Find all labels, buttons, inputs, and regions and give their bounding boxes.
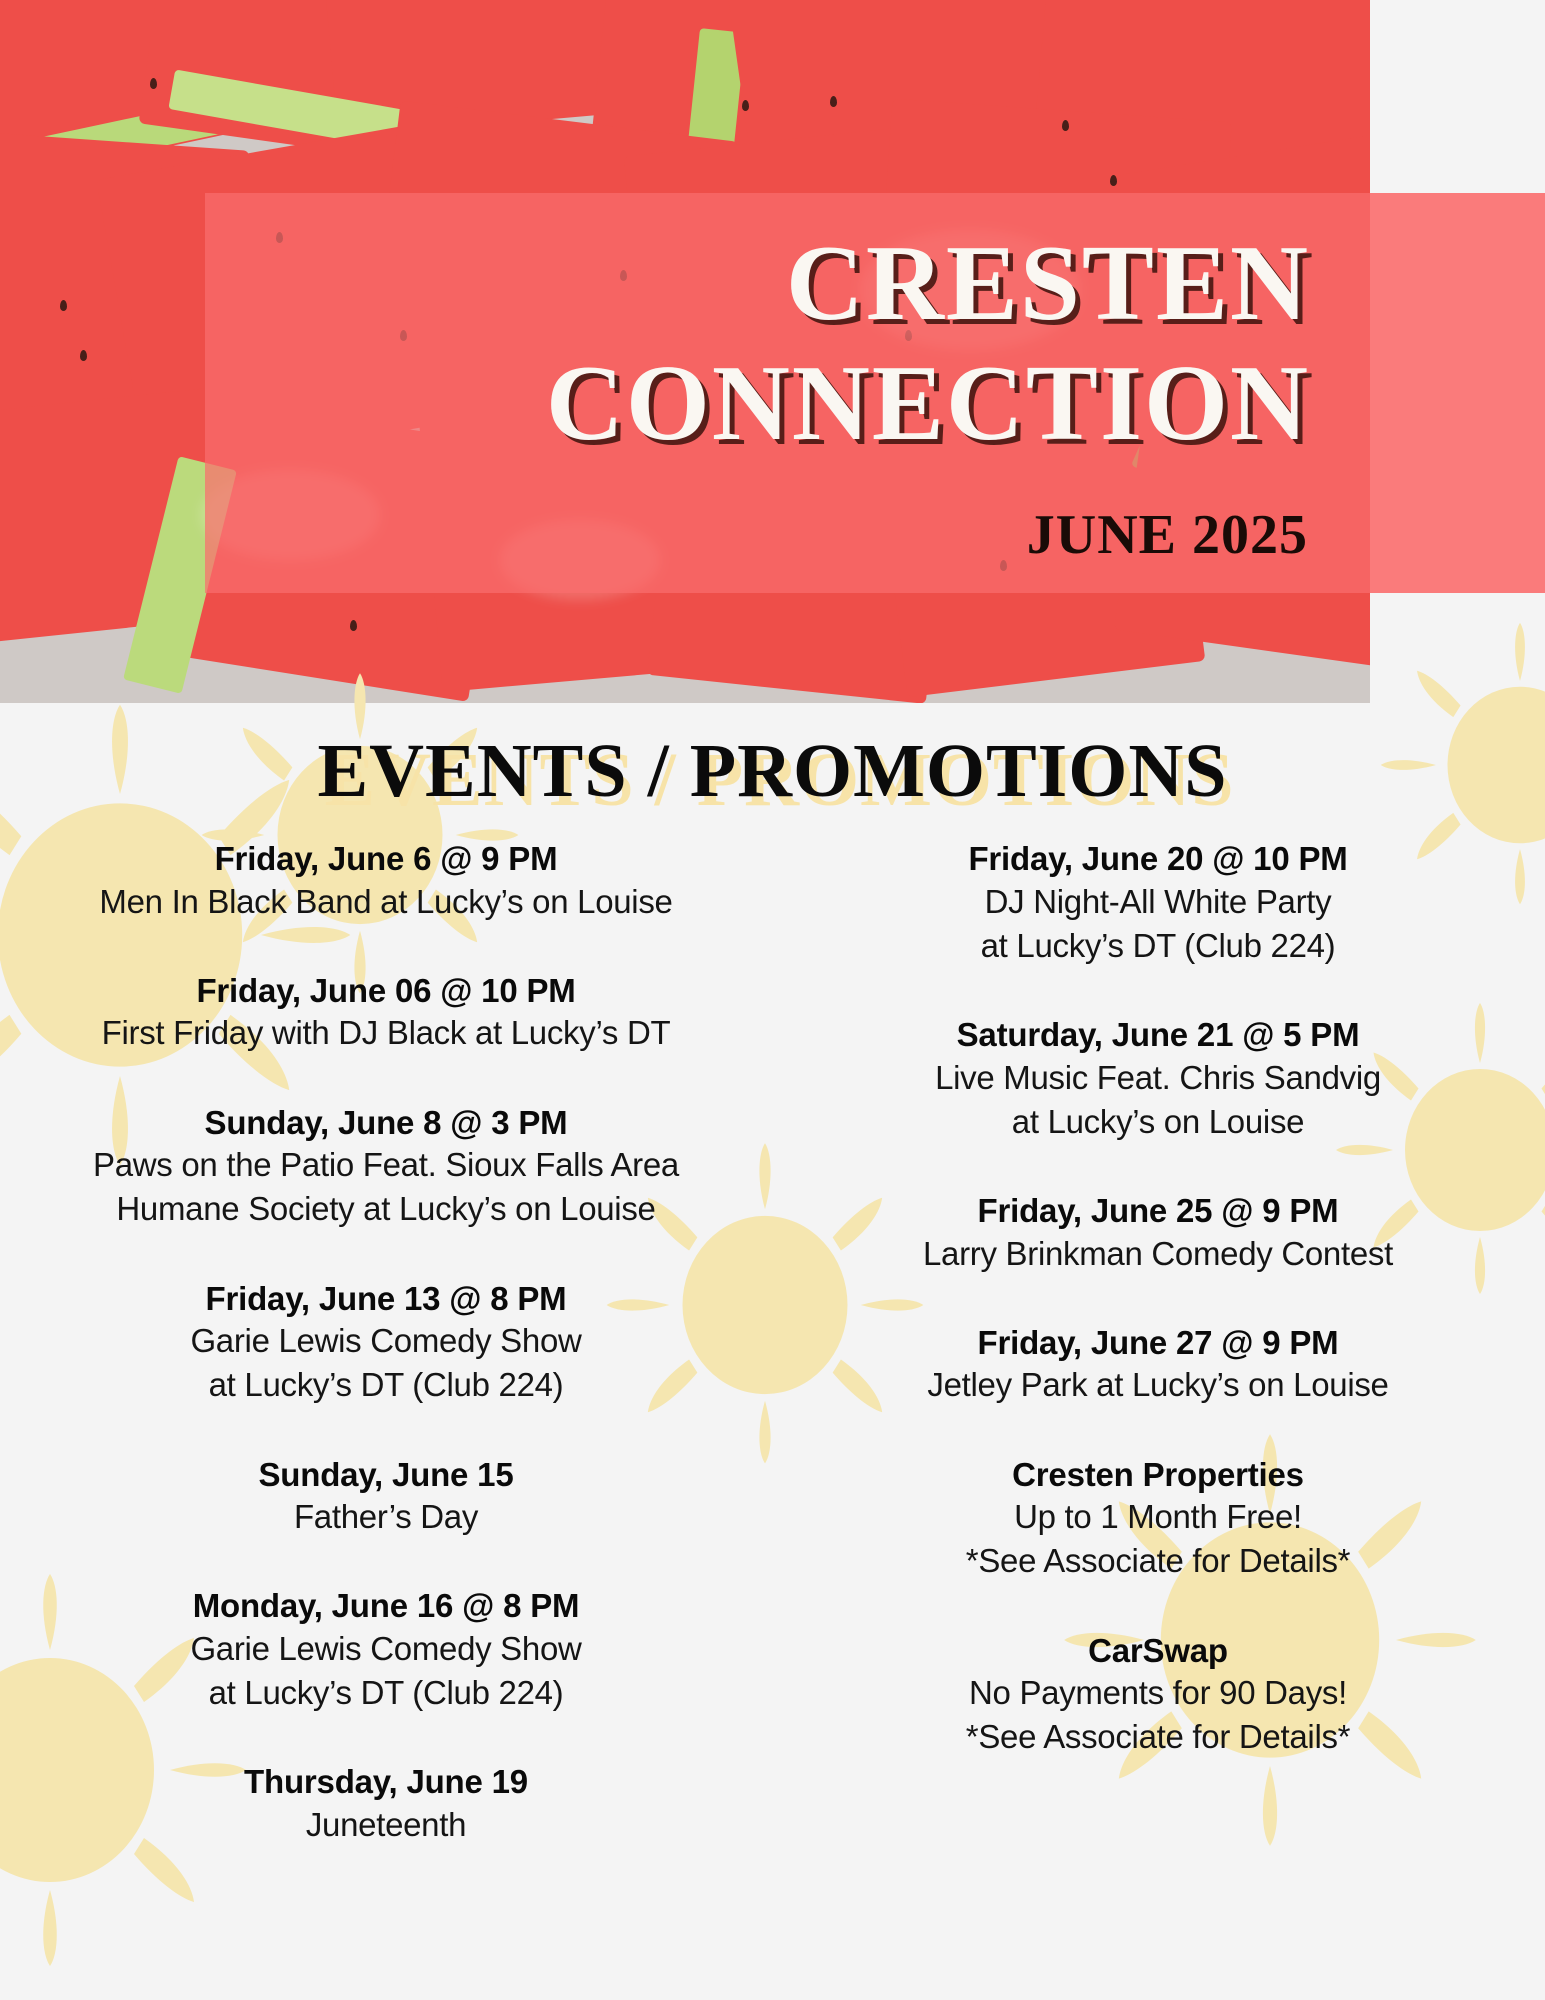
newsletter-title-line2: CONNECTION bbox=[546, 350, 1310, 458]
event-description-line: First Friday with DJ Black at Lucky’s DT bbox=[30, 1011, 742, 1055]
event-description-line: DJ Night-All White Party bbox=[802, 880, 1514, 924]
event-entry: Thursday, June 19Juneteenth bbox=[30, 1761, 742, 1847]
event-description-line: Up to 1 Month Free! bbox=[802, 1495, 1514, 1539]
event-entry: Friday, June 13 @ 8 PMGarie Lewis Comedy… bbox=[30, 1278, 742, 1408]
events-columns: Friday, June 6 @ 9 PMMen In Black Band a… bbox=[0, 838, 1545, 1893]
event-entry: Friday, June 20 @ 10 PMDJ Night-All Whit… bbox=[802, 838, 1514, 968]
event-description-line: Men In Black Band at Lucky’s on Louise bbox=[30, 880, 742, 924]
events-column-left: Friday, June 6 @ 9 PMMen In Black Band a… bbox=[0, 838, 772, 1893]
event-date: Friday, June 25 @ 9 PM bbox=[802, 1190, 1514, 1232]
coral-overlay-band-right bbox=[1370, 193, 1545, 593]
event-description-line: Garie Lewis Comedy Show bbox=[30, 1627, 742, 1671]
event-entry: Saturday, June 21 @ 5 PMLive Music Feat.… bbox=[802, 1014, 1514, 1144]
event-description-line: Jetley Park at Lucky’s on Louise bbox=[802, 1363, 1514, 1407]
event-date: Friday, June 13 @ 8 PM bbox=[30, 1278, 742, 1320]
event-date: Thursday, June 19 bbox=[30, 1761, 742, 1803]
event-entry: Cresten PropertiesUp to 1 Month Free!*Se… bbox=[802, 1454, 1514, 1584]
event-description-line: Paws on the Patio Feat. Sioux Falls Area bbox=[30, 1143, 742, 1187]
event-date: Saturday, June 21 @ 5 PM bbox=[802, 1014, 1514, 1056]
event-description-line: Live Music Feat. Chris Sandvig bbox=[802, 1056, 1514, 1100]
event-date: Friday, June 06 @ 10 PM bbox=[30, 970, 742, 1012]
event-description-line: Garie Lewis Comedy Show bbox=[30, 1319, 742, 1363]
event-date: Monday, June 16 @ 8 PM bbox=[30, 1585, 742, 1627]
event-entry: Sunday, June 8 @ 3 PMPaws on the Patio F… bbox=[30, 1102, 742, 1232]
events-column-right: Friday, June 20 @ 10 PMDJ Night-All Whit… bbox=[772, 838, 1544, 1893]
event-entry: Sunday, June 15Father’s Day bbox=[30, 1454, 742, 1540]
event-entry: Monday, June 16 @ 8 PMGarie Lewis Comedy… bbox=[30, 1585, 742, 1715]
event-entry: Friday, June 27 @ 9 PMJetley Park at Luc… bbox=[802, 1322, 1514, 1408]
section-heading-text: EVENTS / PROMOTIONS bbox=[317, 728, 1227, 815]
event-description-line: Larry Brinkman Comedy Contest bbox=[802, 1232, 1514, 1276]
newsletter-issue-date: JUNE 2025 bbox=[1027, 507, 1308, 563]
event-description-line: at Lucky’s DT (Club 224) bbox=[30, 1363, 742, 1407]
event-date: Friday, June 6 @ 9 PM bbox=[30, 838, 742, 880]
event-date: CarSwap bbox=[802, 1630, 1514, 1672]
newsletter-title-line1: CRESTEN bbox=[786, 230, 1310, 338]
event-date: Sunday, June 8 @ 3 PM bbox=[30, 1102, 742, 1144]
event-description-line: *See Associate for Details* bbox=[802, 1539, 1514, 1583]
event-entry: CarSwapNo Payments for 90 Days!*See Asso… bbox=[802, 1630, 1514, 1760]
event-description-line: Humane Society at Lucky’s on Louise bbox=[30, 1187, 742, 1231]
event-date: Cresten Properties bbox=[802, 1454, 1514, 1496]
event-entry: Friday, June 06 @ 10 PMFirst Friday with… bbox=[30, 970, 742, 1056]
event-description-line: *See Associate for Details* bbox=[802, 1715, 1514, 1759]
event-entry: Friday, June 25 @ 9 PMLarry Brinkman Com… bbox=[802, 1190, 1514, 1276]
event-description-line: at Lucky’s on Louise bbox=[802, 1100, 1514, 1144]
event-entry: Friday, June 6 @ 9 PMMen In Black Band a… bbox=[30, 838, 742, 924]
event-date: Friday, June 27 @ 9 PM bbox=[802, 1322, 1514, 1364]
section-heading: EVENTS / PROMOTIONS bbox=[0, 728, 1545, 815]
event-description-line: No Payments for 90 Days! bbox=[802, 1671, 1514, 1715]
event-description-line: Juneteenth bbox=[30, 1803, 742, 1847]
event-description-line: Father’s Day bbox=[30, 1495, 742, 1539]
event-description-line: at Lucky’s DT (Club 224) bbox=[802, 924, 1514, 968]
hero-banner: CRESTEN CONNECTION JUNE 2025 bbox=[0, 0, 1370, 703]
event-description-line: at Lucky’s DT (Club 224) bbox=[30, 1671, 742, 1715]
event-date: Sunday, June 15 bbox=[30, 1454, 742, 1496]
event-date: Friday, June 20 @ 10 PM bbox=[802, 838, 1514, 880]
